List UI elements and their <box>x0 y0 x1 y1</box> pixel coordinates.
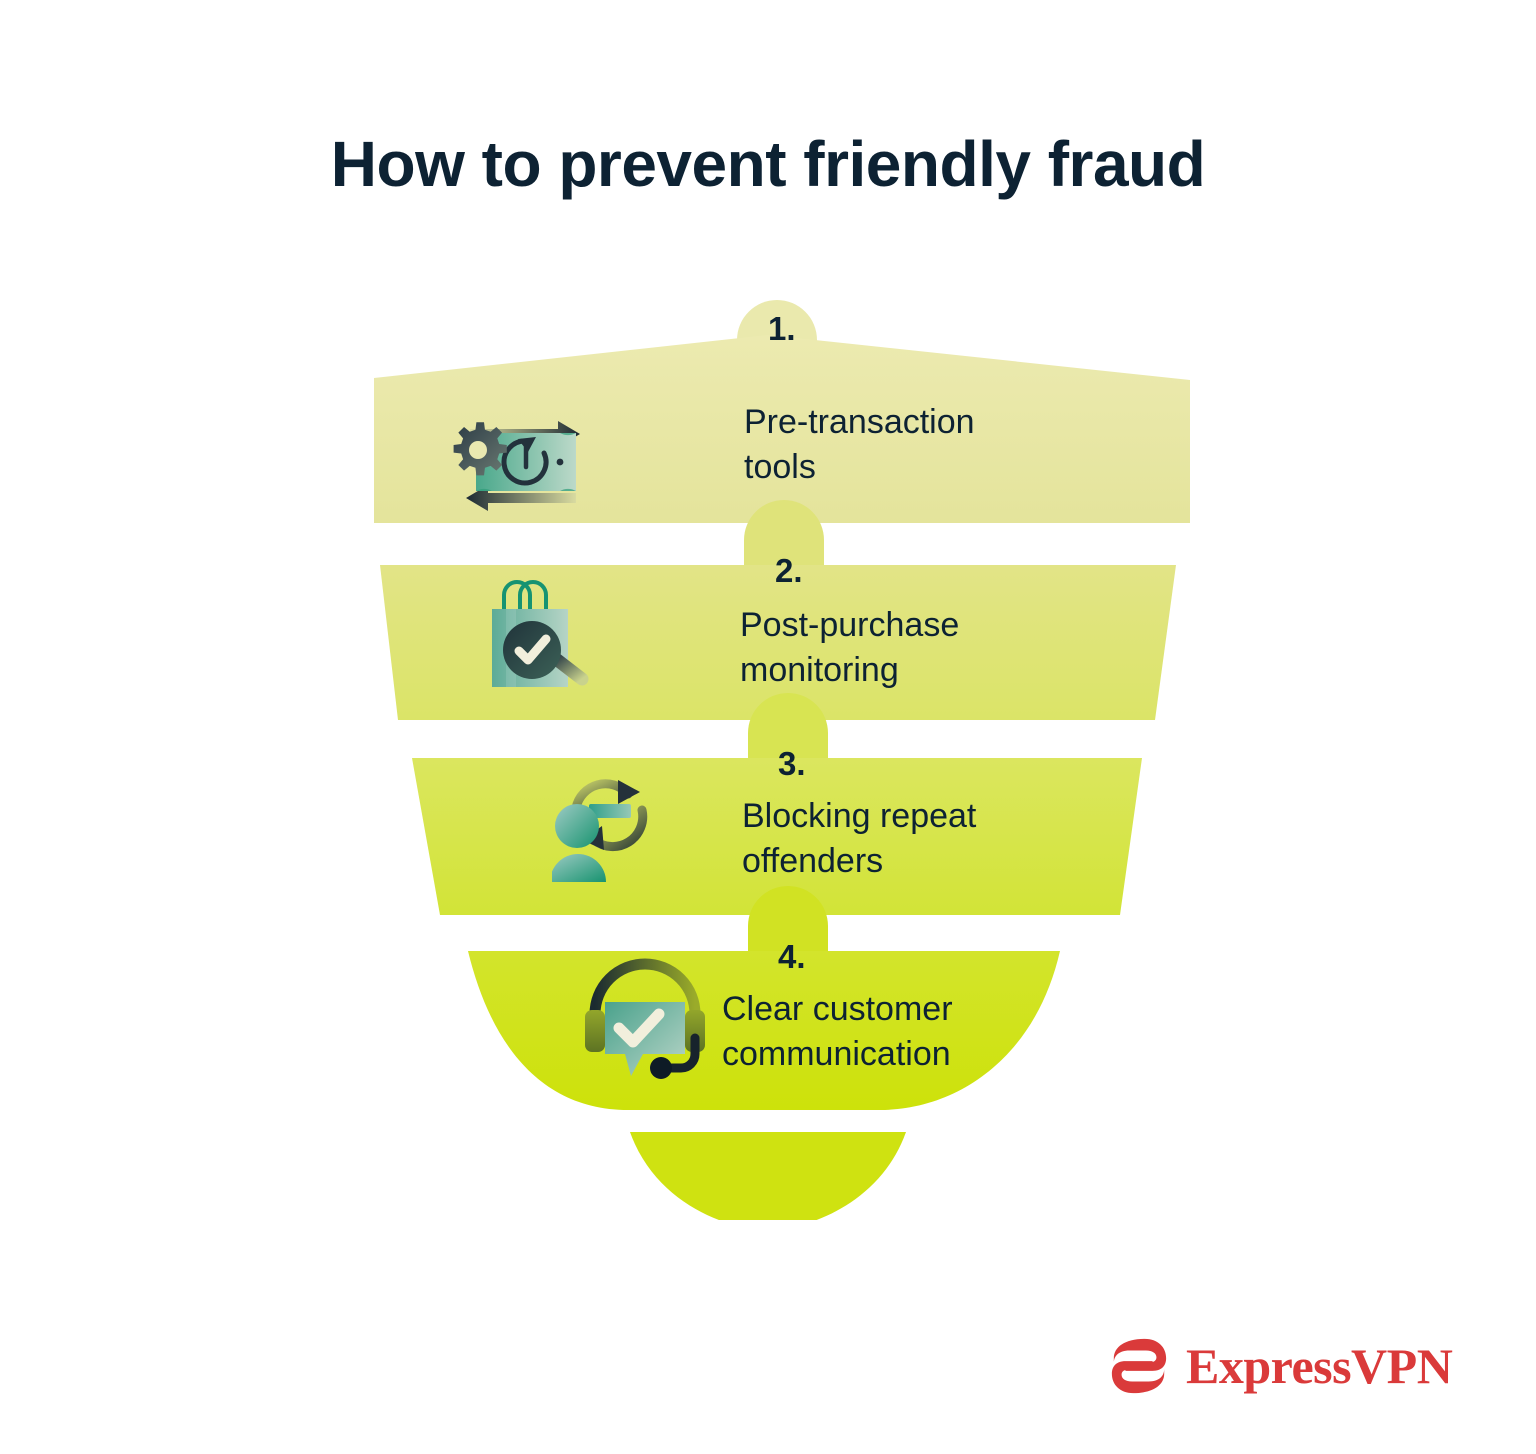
funnel-diagram: 1. Pre-transaction tools <box>0 290 1536 1220</box>
page-title: How to prevent friendly fraud <box>0 129 1536 199</box>
funnel-step-number-4: 4. <box>778 938 806 976</box>
money-refund-gear-icon <box>440 405 605 515</box>
shopping-bag-magnifier-check-icon <box>482 573 607 693</box>
person-block-repeat-icon <box>552 764 672 884</box>
funnel-step-label-1: Pre-transaction tools <box>744 400 975 490</box>
expressvpn-e-mark-icon <box>1108 1335 1170 1397</box>
funnel-step-label-4: Clear customer communication <box>722 987 953 1077</box>
expressvpn-logo[interactable]: ExpressVPN <box>1108 1328 1448 1404</box>
brand-name: ExpressVPN <box>1186 1341 1452 1391</box>
funnel-step-label-3: Blocking repeat offenders <box>742 794 976 884</box>
funnel-step-number-1: 1. <box>768 310 796 348</box>
funnel-step-label-2: Post-purchase monitoring <box>740 603 959 693</box>
headset-chat-check-icon <box>583 958 708 1080</box>
funnel-step-number-3: 3. <box>778 745 806 783</box>
funnel-tip <box>630 1132 906 1220</box>
funnel-step-number-2: 2. <box>775 552 803 590</box>
